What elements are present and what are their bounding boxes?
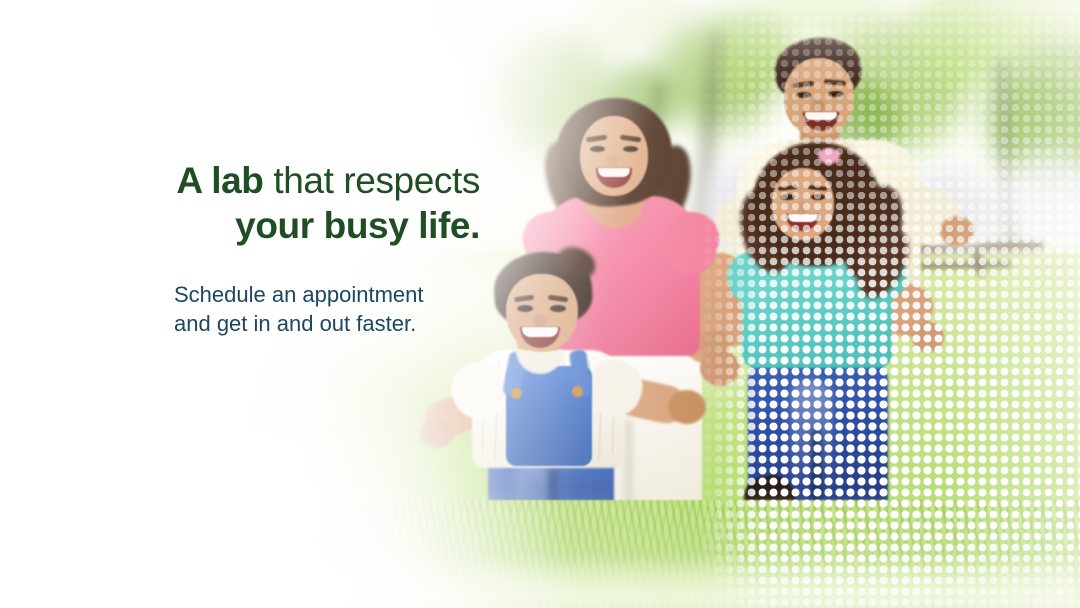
girl-nose [796, 202, 807, 214]
girl-hair-bow [818, 148, 840, 164]
grass-foreground-blur [0, 556, 1080, 608]
boy-eye-left [517, 305, 533, 312]
girl-hand-right [912, 322, 944, 352]
hero-subheadline: Schedule an appointment and get in and o… [174, 280, 504, 338]
father-teeth [805, 112, 837, 120]
boy-hand-left [420, 418, 454, 448]
mother-teeth [598, 168, 630, 177]
boy-eye-right [550, 305, 566, 312]
hero-banner: A lab that respectsyour busy life. Sched… [0, 0, 1080, 608]
boy-nose [533, 314, 546, 328]
father-eye-right [828, 91, 843, 97]
headline-line-two: your busy life. [235, 205, 480, 246]
boy-teeth [522, 327, 558, 337]
headline-bold-lead: A lab [176, 160, 263, 201]
girl-eye-left [781, 194, 795, 200]
girl-eye-right [811, 194, 825, 200]
hero-photo [0, 0, 1080, 608]
mother-eye-left [590, 146, 605, 152]
boy-overalls-button-right [572, 386, 583, 397]
father-hand-right [940, 216, 974, 246]
girl-jeans-highlight [790, 380, 832, 500]
mother-eye-right [623, 146, 638, 152]
father-nose [812, 99, 825, 113]
page-title: A lab that respectsyour busy life. [0, 158, 480, 248]
girl-teeth [788, 214, 817, 222]
father-eye-left [796, 92, 811, 98]
mother-nose [606, 154, 618, 168]
girl-hand-left [700, 330, 730, 358]
boy-hand-right [668, 390, 706, 424]
headline-regular: that respects [263, 160, 480, 201]
boy-overalls-button-left [511, 388, 522, 399]
